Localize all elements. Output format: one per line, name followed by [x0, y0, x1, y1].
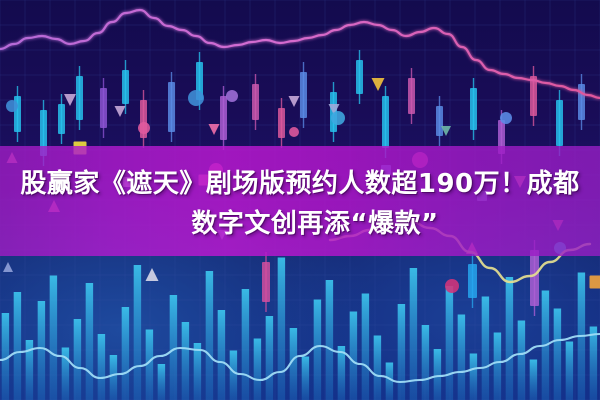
- headline-band: [0, 146, 600, 256]
- promo-banner-image: 股赢家《遮天》剧场版预约人数超190万！成都 数字文创再添“爆款”: [0, 0, 600, 400]
- volume-bars: [2, 258, 597, 400]
